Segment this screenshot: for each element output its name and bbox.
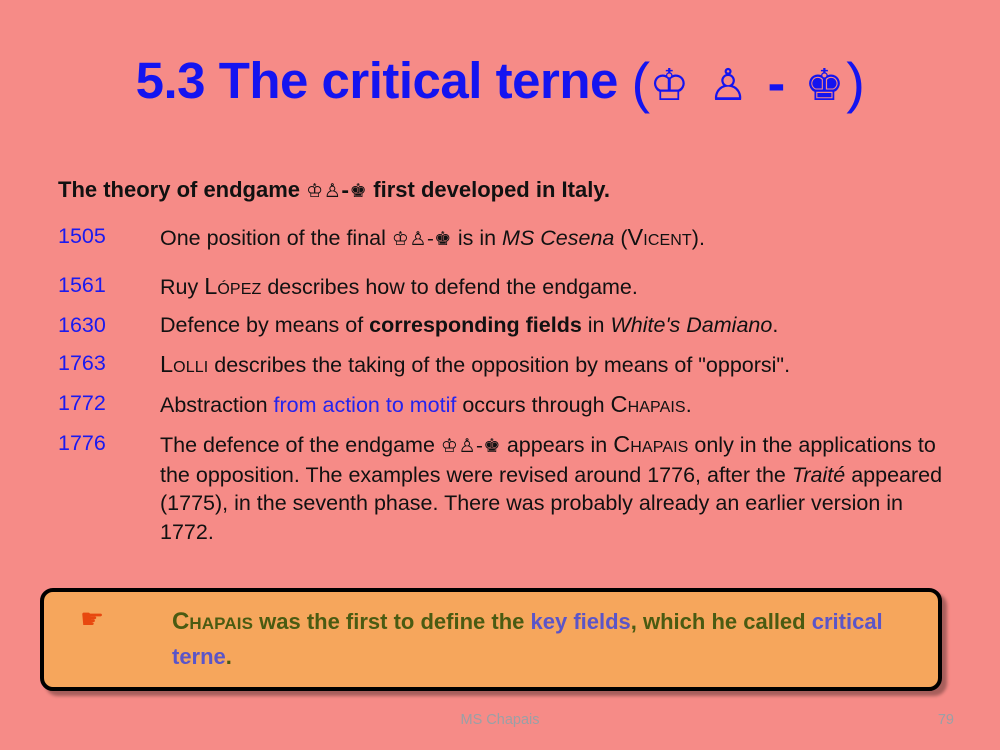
entry-text-part: appears in (501, 433, 613, 457)
list-item: 1505 One position of the final ♔♙-♚ is i… (58, 222, 958, 253)
entry-highlight: from action to motif (274, 393, 457, 417)
entry-bold: corresponding fields (369, 313, 582, 337)
callout-text-part: , which he called (631, 609, 812, 634)
list-item: 1561 Ruy López describes how to defend t… (58, 271, 958, 302)
entry-year: 1561 (58, 271, 160, 300)
entry-text: Defence by means of corresponding fields… (160, 311, 958, 340)
entry-smallcaps: Chapais (611, 391, 686, 417)
entry-text-part: Abstraction (160, 393, 274, 417)
entry-text-part: occurs through (456, 393, 610, 417)
callout-text-part: . (226, 644, 232, 669)
entry-smallcaps: Chapais (613, 431, 688, 457)
entry-text-part: ( (614, 226, 627, 250)
lead-paragraph: The theory of endgame ♔♙-♚ first develop… (58, 176, 958, 204)
entry-year: 1505 (58, 222, 160, 251)
entry-year: 1763 (58, 349, 160, 378)
page-title: 5.3 The critical terne (♔ ♙ - ♚) (0, 52, 1000, 114)
title-open-paren: ( (632, 51, 650, 114)
page-number: 79 (938, 712, 954, 728)
lead-before: The theory of endgame (58, 177, 306, 202)
list-item: 1776 The defence of the endgame ♔♙-♚ app… (58, 429, 958, 546)
callout-text: Chapais was the first to define the key … (172, 604, 918, 673)
entry-text-part: . (772, 313, 778, 337)
lead-after: first developed in Italy. (367, 177, 610, 202)
list-item: 1763 Lolli describes the taking of the o… (58, 349, 958, 380)
title-close-paren: ) (846, 51, 864, 114)
entry-italic: White's Damiano (610, 313, 772, 337)
entry-text-part: describes the taking of the opposition b… (208, 353, 790, 377)
entry-italic: Traité (792, 463, 845, 487)
title-text: The critical terne (219, 52, 618, 109)
chess-pieces-icon: ♔♙-♚ (392, 228, 452, 250)
entry-text-part: is in (452, 226, 502, 250)
callout-smallcaps: Chapais (172, 608, 253, 635)
entry-text: Lolli describes the taking of the opposi… (160, 349, 958, 380)
list-item: 1772 Abstraction from action to motif oc… (58, 389, 958, 420)
chess-pieces-icon: ♔♙-♚ (306, 180, 367, 202)
callout-box: ☛ Chapais was the first to define the ke… (40, 588, 942, 691)
entry-text-part: Defence by means of (160, 313, 369, 337)
entry-italic: MS Cesena (502, 226, 614, 250)
entry-text-part: One position of the final (160, 226, 392, 250)
list-item: 1630 Defence by means of corresponding f… (58, 311, 958, 340)
entry-text-part: The defence of the endgame (160, 433, 441, 457)
slide-body: The theory of endgame ♔♙-♚ first develop… (58, 176, 958, 553)
entry-year: 1776 (58, 429, 160, 458)
entry-text: Abstraction from action to motif occurs … (160, 389, 958, 420)
pointing-hand-icon: ☛ (64, 604, 172, 636)
entry-text: The defence of the endgame ♔♙-♚ appears … (160, 429, 958, 546)
title-number: 5.3 (136, 52, 205, 109)
callout-text-part: was the first to define the (253, 609, 530, 634)
entry-text-part: describes how to defend the endgame. (261, 275, 638, 299)
entry-smallcaps: Lolli (160, 351, 208, 377)
entry-text: One position of the final ♔♙-♚ is in MS … (160, 222, 958, 253)
slide-canvas: 5.3 The critical terne (♔ ♙ - ♚) The the… (0, 0, 1000, 750)
chess-pieces-icon: ♔♙-♚ (441, 435, 501, 457)
entry-smallcaps: López (204, 273, 261, 299)
footer-source-label: MS Chapais (0, 712, 1000, 728)
entry-year: 1630 (58, 311, 160, 340)
entry-text: Ruy López describes how to defend the en… (160, 271, 958, 302)
entry-text-part: ). (692, 226, 705, 250)
callout-highlight-key-fields: key fields (531, 609, 631, 634)
entry-year: 1772 (58, 389, 160, 418)
entry-text-part: in (582, 313, 611, 337)
entry-text-part: Ruy (160, 275, 204, 299)
entry-smallcaps: Vicent (628, 224, 692, 250)
entry-text-part: . (686, 393, 692, 417)
chess-pieces-icon: ♔ ♙ - ♚ (650, 60, 847, 111)
